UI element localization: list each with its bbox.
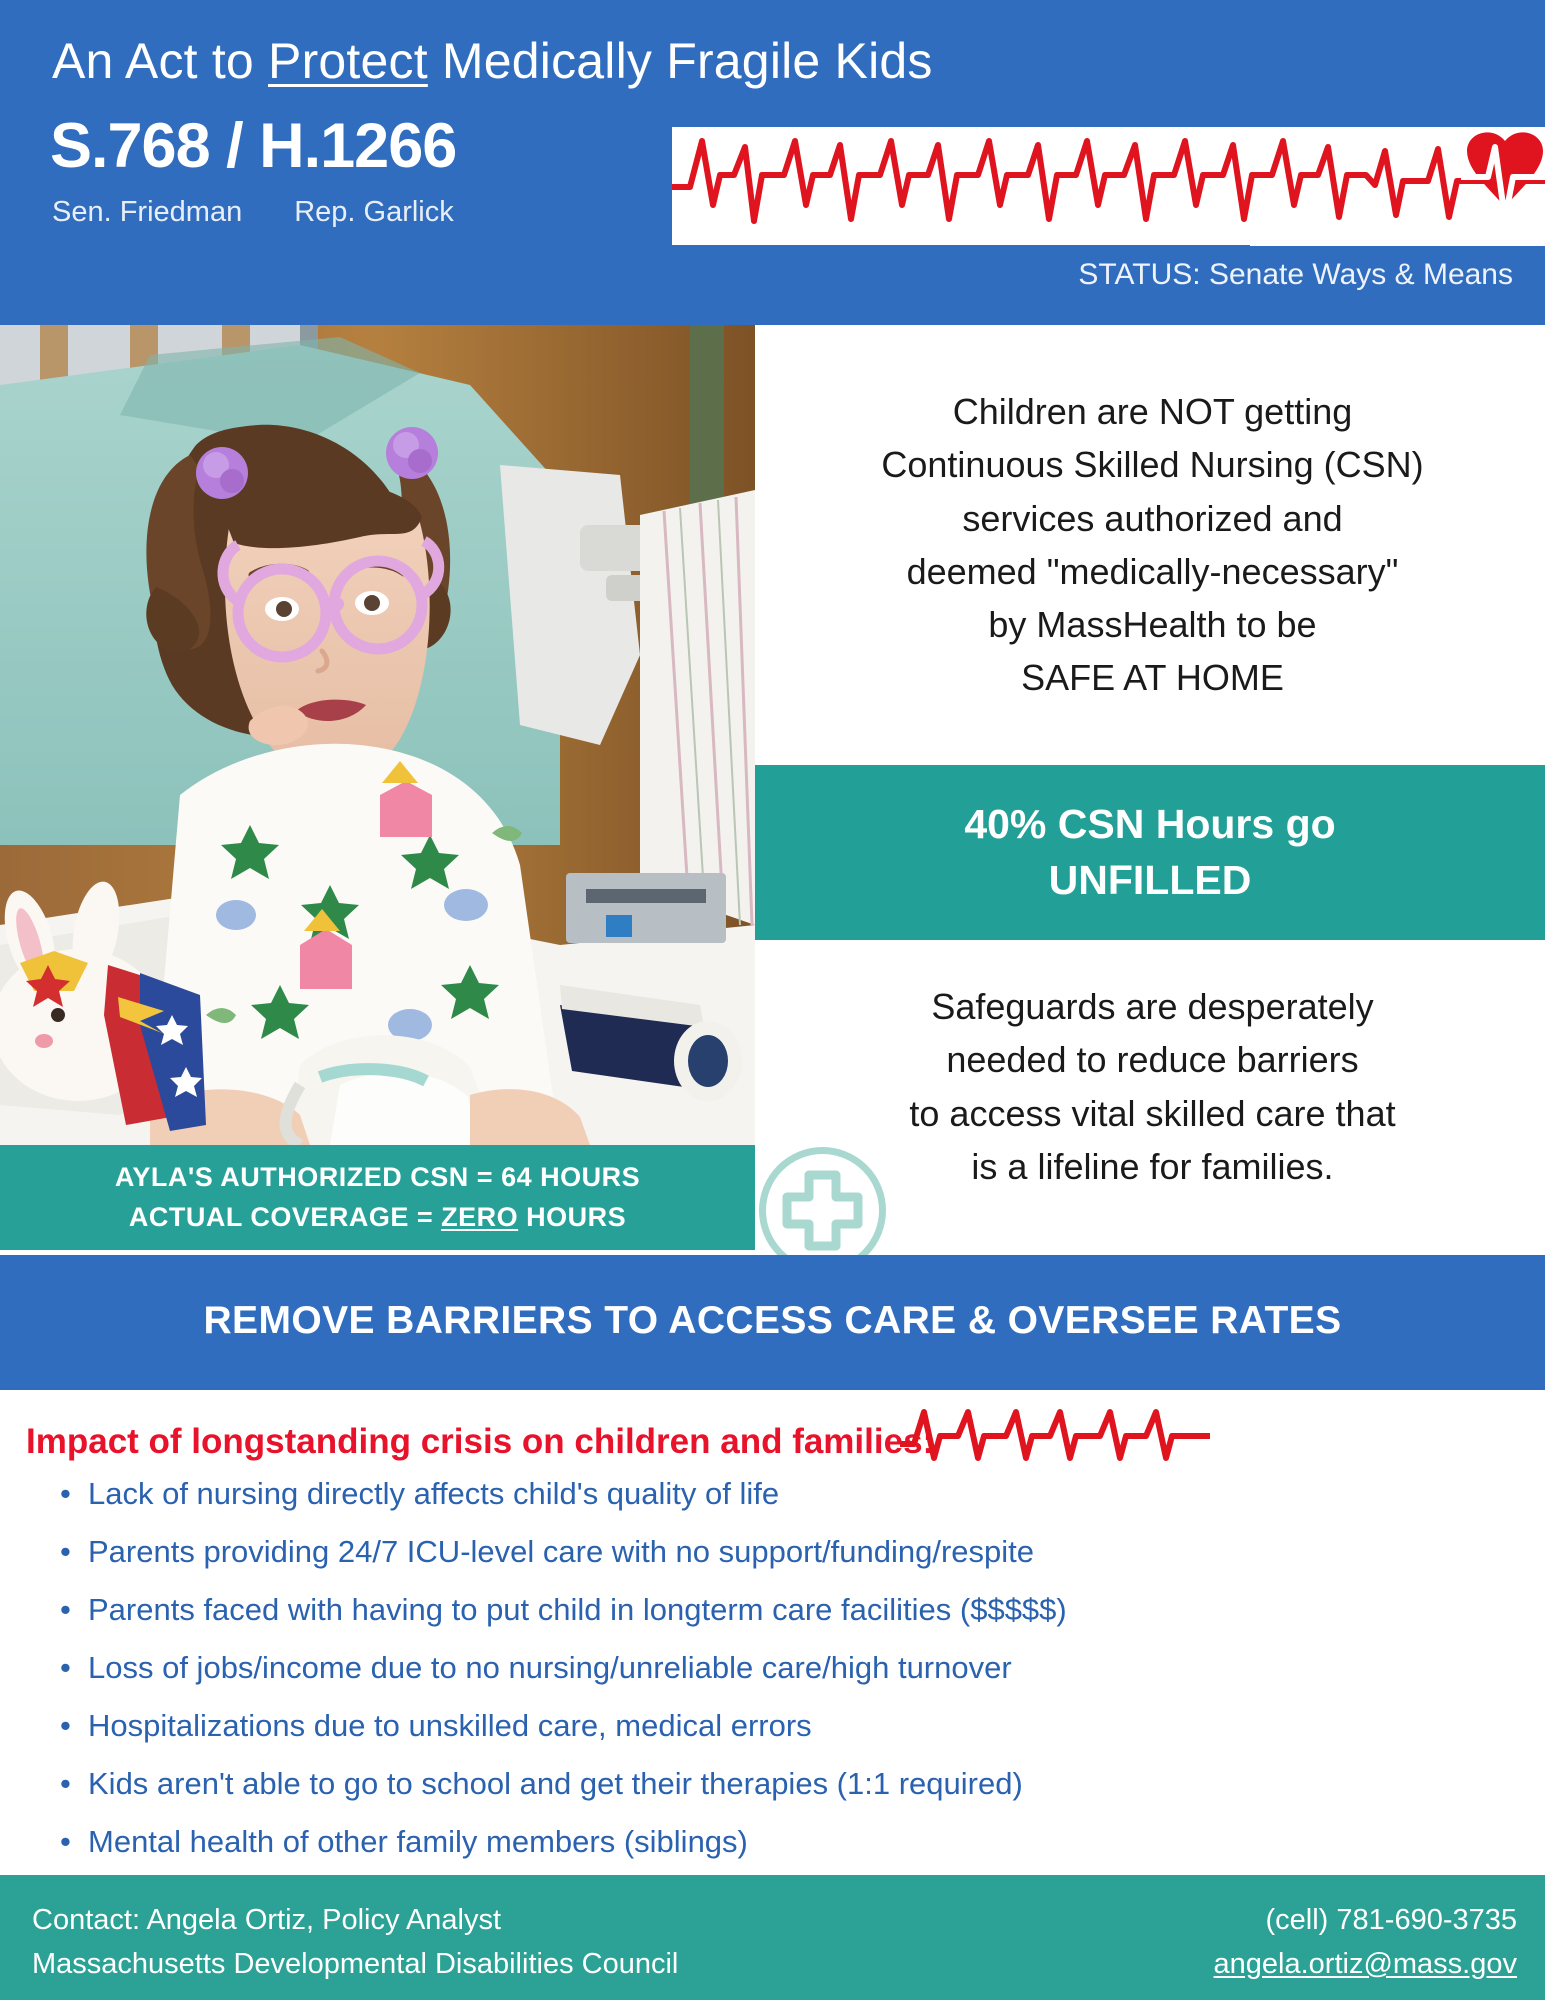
contact-phone: (cell) 781-690-3735 — [1214, 1899, 1517, 1943]
footer-contact-left: Contact: Angela Ortiz, Policy Analyst Ma… — [32, 1899, 678, 1986]
bill-sponsors: Sen. FriedmanRep. Garlick — [52, 196, 522, 229]
title-part-post: Medically Fragile Kids — [428, 33, 933, 89]
status-badge: STATUS: Senate Ways & Means — [1078, 258, 1513, 292]
ayla-actual-post: HOURS — [518, 1202, 626, 1232]
ayla-actual-pre: ACTUAL COVERAGE = — [129, 1202, 441, 1232]
ecg-box-extension — [1250, 232, 1545, 246]
contact-name: Contact: Angela Ortiz, Policy Analyst — [32, 1899, 678, 1943]
bill-numbers: S.768 / H.1266 — [50, 110, 456, 182]
impact-heading: Impact of longstanding crisis on childre… — [26, 1422, 934, 1462]
list-item: Mental health of other family members (s… — [46, 1826, 1486, 1857]
photo-ayla-hospital-bed — [0, 325, 755, 1145]
ayla-stat-banner: AYLA'S AUTHORIZED CSN = 64 HOURS ACTUAL … — [0, 1145, 755, 1250]
footer-contact-bar: Contact: Angela Ortiz, Policy Analyst Ma… — [0, 1875, 1545, 2000]
stat-line-1: 40% CSN Hours go — [964, 797, 1335, 852]
flyer-page: An Act to Protect Medically Fragile Kids… — [0, 0, 1545, 2000]
list-item: Loss of jobs/income due to no nursing/un… — [46, 1652, 1486, 1683]
impact-bullet-list: Lack of nursing directly affects child's… — [46, 1478, 1486, 1884]
call-to-action-band: REMOVE BARRIERS TO ACCESS CARE & OVERSEE… — [0, 1255, 1545, 1390]
sponsor-senate: Sen. Friedman — [52, 196, 242, 228]
heartbeat-ecg-with-heart-icon — [672, 127, 1545, 245]
page-title: An Act to Protect Medically Fragile Kids — [52, 32, 933, 90]
bullet-list: Lack of nursing directly affects child's… — [46, 1478, 1486, 1857]
stat-line-2: UNFILLED — [1049, 853, 1252, 908]
title-part-pre: An Act to — [52, 33, 268, 89]
csn-unfilled-stat-band: 40% CSN Hours go UNFILLED — [755, 765, 1545, 940]
ayla-actual-line: ACTUAL COVERAGE = ZERO HOURS — [129, 1198, 626, 1237]
title-part-protect: Protect — [268, 33, 428, 89]
ayla-actual-zero: ZERO — [441, 1202, 518, 1232]
list-item: Parents providing 24/7 ICU-level care wi… — [46, 1536, 1486, 1567]
footer-contact-right: (cell) 781-690-3735 angela.ortiz@mass.go… — [1214, 1899, 1517, 1986]
ayla-authorized-line: AYLA'S AUTHORIZED CSN = 64 HOURS — [115, 1158, 640, 1197]
heartbeat-ecg-icon — [900, 1406, 1210, 1466]
statement-text: Children are NOT getting Continuous Skil… — [760, 385, 1545, 705]
list-item: Parents faced with having to put child i… — [46, 1594, 1486, 1625]
list-item: Kids aren't able to go to school and get… — [46, 1768, 1486, 1799]
list-item: Lack of nursing directly affects child's… — [46, 1478, 1486, 1509]
header-banner: An Act to Protect Medically Fragile Kids… — [0, 0, 1545, 325]
sponsor-house: Rep. Garlick — [294, 196, 454, 228]
contact-email-link[interactable]: angela.ortiz@mass.gov — [1214, 1943, 1517, 1987]
list-item: Hospitalizations due to unskilled care, … — [46, 1710, 1486, 1741]
call-to-action-text: REMOVE BARRIERS TO ACCESS CARE & OVERSEE… — [0, 1299, 1545, 1343]
contact-org: Massachusetts Developmental Disabilities… — [32, 1943, 678, 1987]
